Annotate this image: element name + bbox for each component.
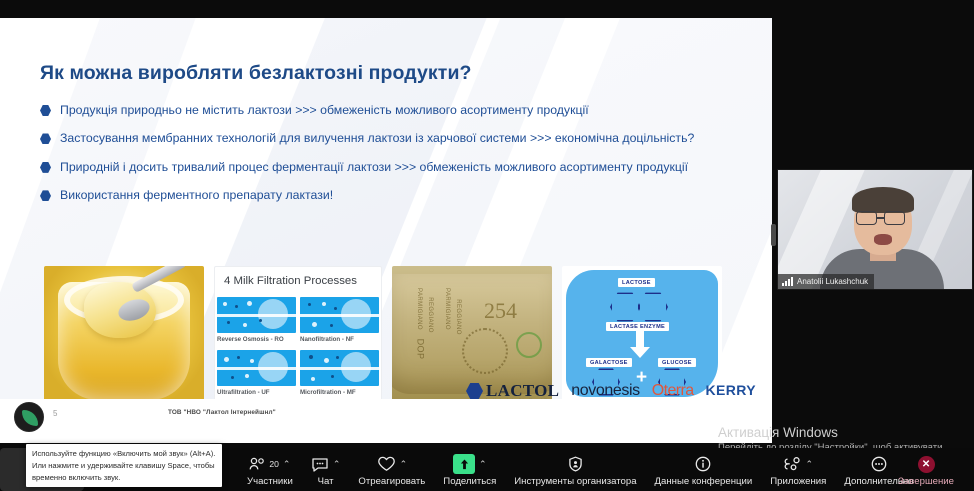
- apps-button[interactable]: ⌃ Приложения: [761, 448, 835, 491]
- hexagon-bullet-icon: [40, 190, 51, 201]
- react-label: Отреагировать: [358, 476, 425, 487]
- lactose-label: LACTOSE: [618, 278, 655, 287]
- lactol-logo: LACTOL food technologies & healthy nutri…: [466, 381, 559, 401]
- more-ellipsis-icon: [871, 454, 887, 474]
- end-meeting-button[interactable]: ✕ Завершение: [888, 448, 964, 491]
- bullet-text: Використання ферментного препарату лакта…: [60, 187, 333, 204]
- kerry-logo: KERRY: [706, 382, 757, 401]
- panel-resize-handle[interactable]: [771, 224, 776, 246]
- participant-video-tile[interactable]: Anatolii Lukashchuk: [777, 169, 973, 290]
- apps-icon: ⌃: [784, 454, 814, 474]
- bullet-text: Природній і досить тривалий процес ферме…: [60, 159, 688, 176]
- hexagon-bullet-icon: [40, 133, 51, 144]
- list-item: Природній і досить тривалий процес ферме…: [40, 159, 730, 176]
- signal-bars-icon: [782, 277, 793, 286]
- audio-tooltip: Используйте функцию «Включить мой звук» …: [26, 444, 222, 487]
- slide-title: Як можна виробляти безлактозні продукти?: [40, 62, 472, 85]
- filtration-label: Microfiltration - MF: [300, 389, 379, 396]
- participant-name: Anatolii Lukashchuk: [797, 277, 868, 286]
- novonesis-logo: novonesis: [571, 382, 639, 400]
- filtration-label: Reverse Osmosis - RO: [217, 336, 296, 343]
- chevron-up-icon[interactable]: ⌃: [333, 459, 341, 470]
- chevron-up-icon[interactable]: ⌃: [806, 459, 814, 470]
- shield-icon: [568, 454, 583, 474]
- chevron-up-icon[interactable]: ⌃: [400, 459, 408, 470]
- filtration-cell-ro: Reverse Osmosis - RO: [217, 297, 296, 344]
- milk-filtration-diagram: 4 Milk Filtration Processes Reverse O: [214, 266, 382, 401]
- glucose-label: GLUCOSE: [658, 358, 696, 367]
- oterra-logo: Oterra: [652, 382, 694, 400]
- list-item: Використання ферментного препарату лакта…: [40, 187, 730, 204]
- chat-label: Чат: [318, 476, 334, 487]
- participant-nameplate: Anatolii Lukashchuk: [778, 274, 874, 289]
- chat-icon: ⌃: [311, 454, 341, 474]
- lactol-hexagon-icon: [466, 383, 483, 400]
- hexagon-bullet-icon: [40, 162, 51, 173]
- chat-button[interactable]: ⌃ Чат: [302, 448, 350, 491]
- leaf-icon: [22, 410, 38, 426]
- host-tools-label: Инструменты организатора: [514, 476, 636, 487]
- close-icon: ✕: [922, 460, 930, 470]
- filtration-label: Nanofiltration - NF: [300, 336, 379, 343]
- filtration-diagram-title: 4 Milk Filtration Processes: [224, 275, 357, 287]
- slide-page-number: 5: [53, 409, 57, 418]
- participants-button[interactable]: 20 ⌃ Участники: [238, 448, 302, 491]
- chevron-up-icon[interactable]: ⌃: [283, 459, 291, 470]
- end-call-icon: ✕: [918, 456, 935, 473]
- participants-label: Участники: [247, 476, 293, 487]
- ghee-jar-image: [44, 266, 204, 401]
- participants-icon: 20 ⌃: [249, 454, 290, 474]
- share-screen-label: Поделиться: [443, 476, 496, 487]
- chevron-up-icon[interactable]: ⌃: [479, 459, 487, 470]
- heart-icon: ⌃: [377, 454, 408, 474]
- filtration-cell-uf: Ultrafiltration - UF: [217, 350, 296, 397]
- slide-bullet-list: Продукція природньо не містить лактози >…: [40, 102, 730, 216]
- bullet-text: Застосування мембранних технологій для в…: [60, 130, 694, 147]
- shared-screen-slide[interactable]: Як можна виробляти безлактозні продукти?…: [0, 18, 772, 443]
- filtration-cell-nf: Nanofiltration - NF: [300, 297, 379, 344]
- company-badge-logo: [14, 402, 44, 432]
- list-item: Продукція природньо не містить лактози >…: [40, 102, 730, 119]
- apps-label: Приложения: [770, 476, 826, 487]
- slide-footer: 5 ТОВ "НВО "Лактол Інтернейшнл": [0, 399, 772, 443]
- meeting-info-button[interactable]: Данные конференции: [646, 448, 762, 491]
- cheese-number: 254: [484, 298, 517, 324]
- bullet-text: Продукція природньо не містить лактози >…: [60, 102, 589, 119]
- end-meeting-label: Завершение: [898, 476, 954, 487]
- share-screen-icon: ⌃: [453, 454, 487, 474]
- meeting-info-label: Данные конференции: [655, 476, 753, 487]
- info-icon: [695, 454, 711, 474]
- slide-company-name: ТОВ "НВО "Лактол Інтернейшнл": [168, 409, 276, 416]
- react-button[interactable]: ⌃ Отреагировать: [349, 448, 434, 491]
- lactase-enzyme-label: LACTASE ENZYME: [606, 322, 669, 331]
- galactose-label: GALACTOSE: [586, 358, 632, 367]
- participants-count: 20: [269, 459, 279, 469]
- filtration-cell-mf: Microfiltration - MF: [300, 350, 379, 397]
- list-item: Застосування мембранних технологій для в…: [40, 130, 730, 147]
- filtration-label: Ultrafiltration - UF: [217, 389, 296, 396]
- host-tools-button[interactable]: Инструменты организатора: [505, 448, 645, 491]
- zoom-meeting-window: Як можна виробляти безлактозні продукти?…: [0, 0, 974, 491]
- share-screen-button[interactable]: ⌃ Поделиться: [434, 448, 505, 491]
- hexagon-bullet-icon: [40, 105, 51, 116]
- partner-logo-row: LACTOL food technologies & healthy nutri…: [466, 381, 756, 401]
